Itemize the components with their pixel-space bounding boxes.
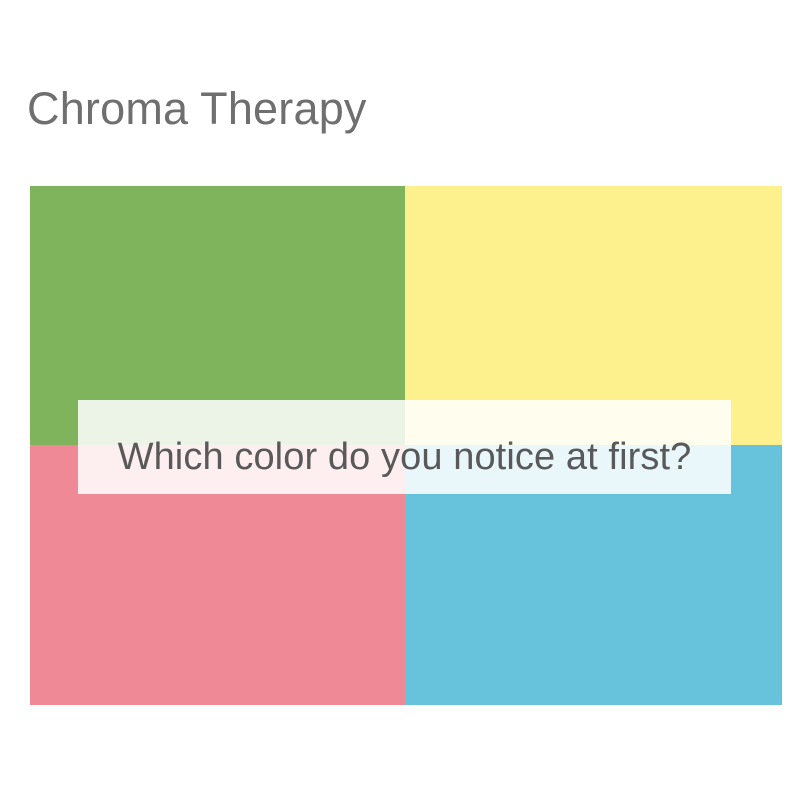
- page-root: Chroma Therapy Which color do you notice…: [0, 0, 800, 800]
- page-title: Chroma Therapy: [27, 82, 367, 136]
- question-banner: Which color do you notice at first?: [78, 400, 731, 494]
- question-prompt-text: Which color do you notice at first?: [118, 435, 692, 479]
